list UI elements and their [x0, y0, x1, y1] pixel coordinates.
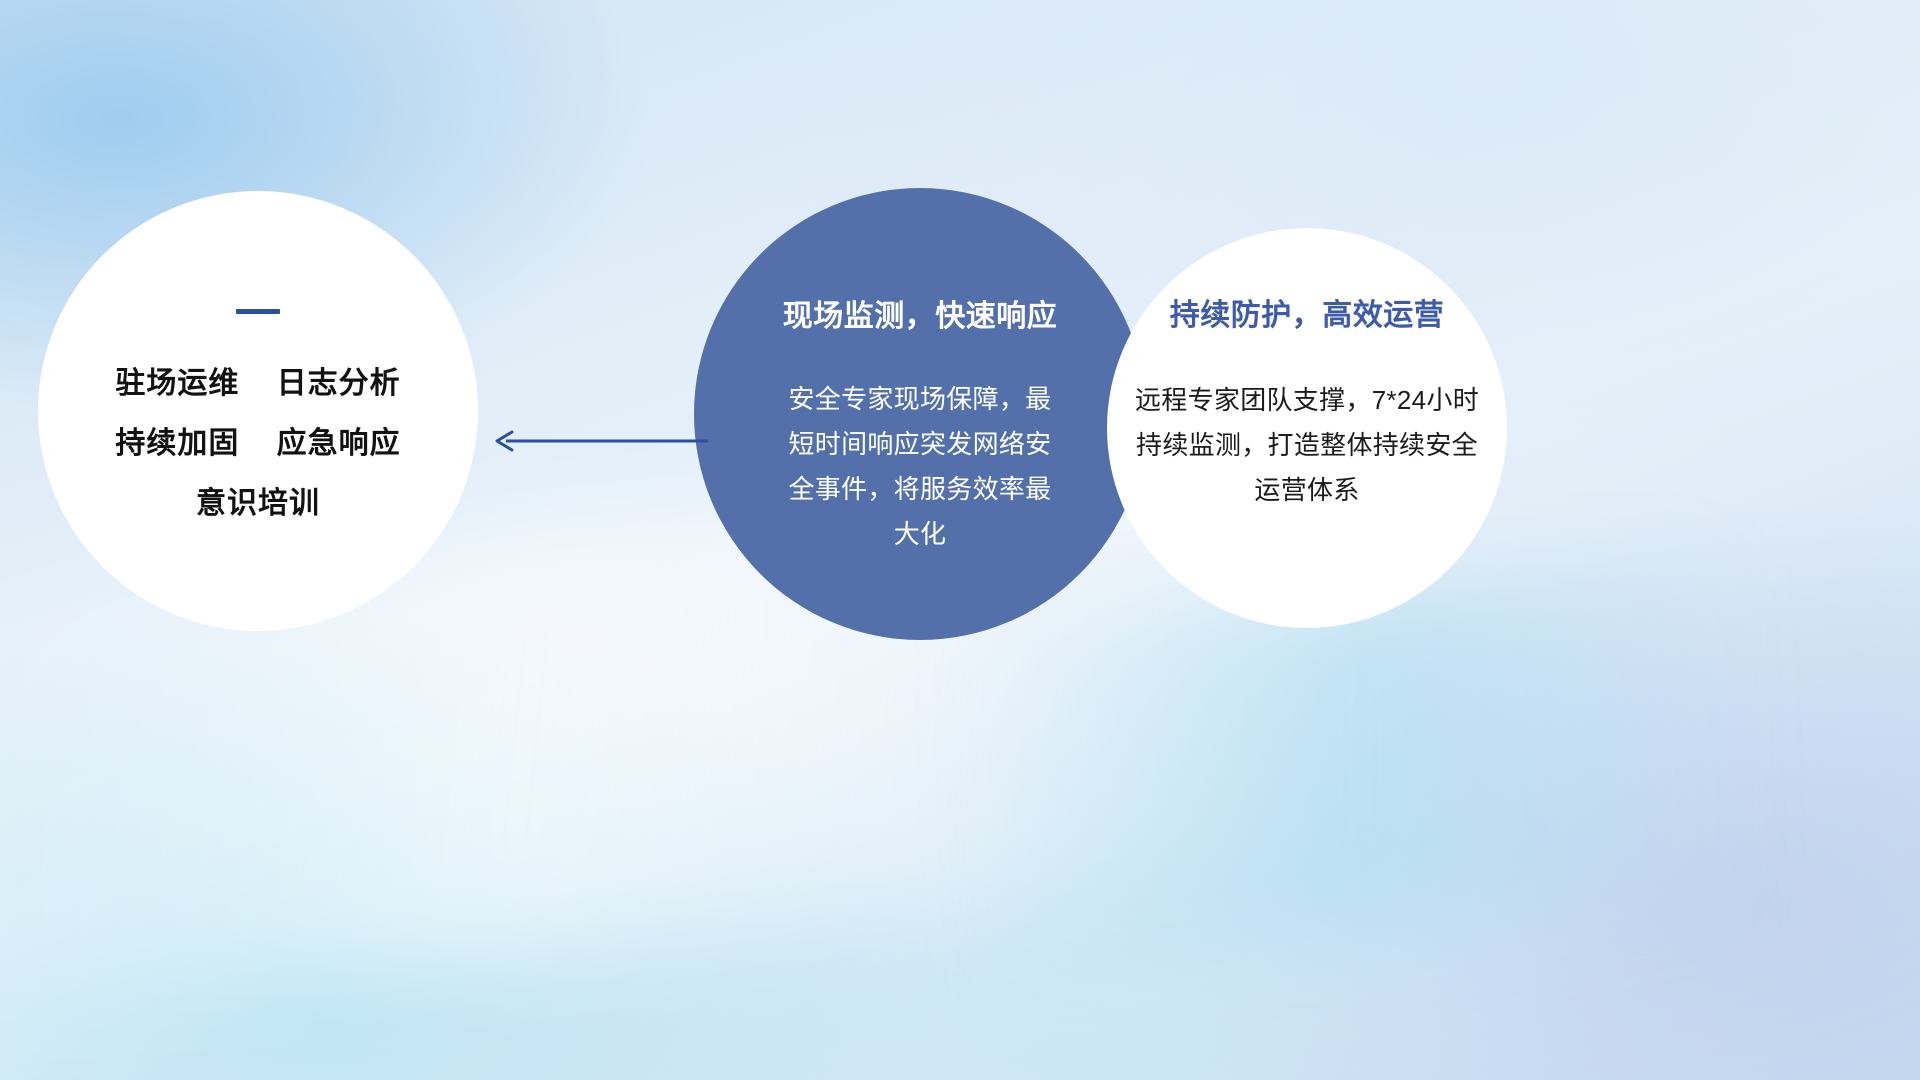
- right-operations-circle: 持续防护，高效运营 远程专家团队支撑，7*24小时持续监测，打造整体持续安全运营…: [1107, 228, 1507, 628]
- arrow-left-icon: [490, 425, 710, 457]
- left-service-line-3: 意识培训: [196, 474, 320, 534]
- slide-canvas: 驻场运维 日志分析 持续加固 应急响应 意识培训 现场监测，快速响应 安全专家现…: [0, 0, 1920, 1080]
- divider-dash: [236, 309, 280, 314]
- left-service-line-1: 驻场运维 日志分析: [115, 354, 400, 414]
- center-body-text: 安全专家现场保障，最短时间响应突发网络安全事件，将服务效率最大化: [780, 377, 1060, 557]
- right-heading: 持续防护，高效运营: [1170, 290, 1445, 334]
- left-service-circle: 驻场运维 日志分析 持续加固 应急响应 意识培训: [38, 191, 478, 631]
- center-monitoring-circle: 现场监测，快速响应 安全专家现场保障，最短时间响应突发网络安全事件，将服务效率最…: [694, 188, 1146, 640]
- right-body-text: 远程专家团队支撑，7*24小时持续监测，打造整体持续安全运营体系: [1131, 378, 1483, 513]
- center-heading: 现场监测，快速响应: [783, 291, 1058, 335]
- left-service-line-2: 持续加固 应急响应: [115, 414, 400, 474]
